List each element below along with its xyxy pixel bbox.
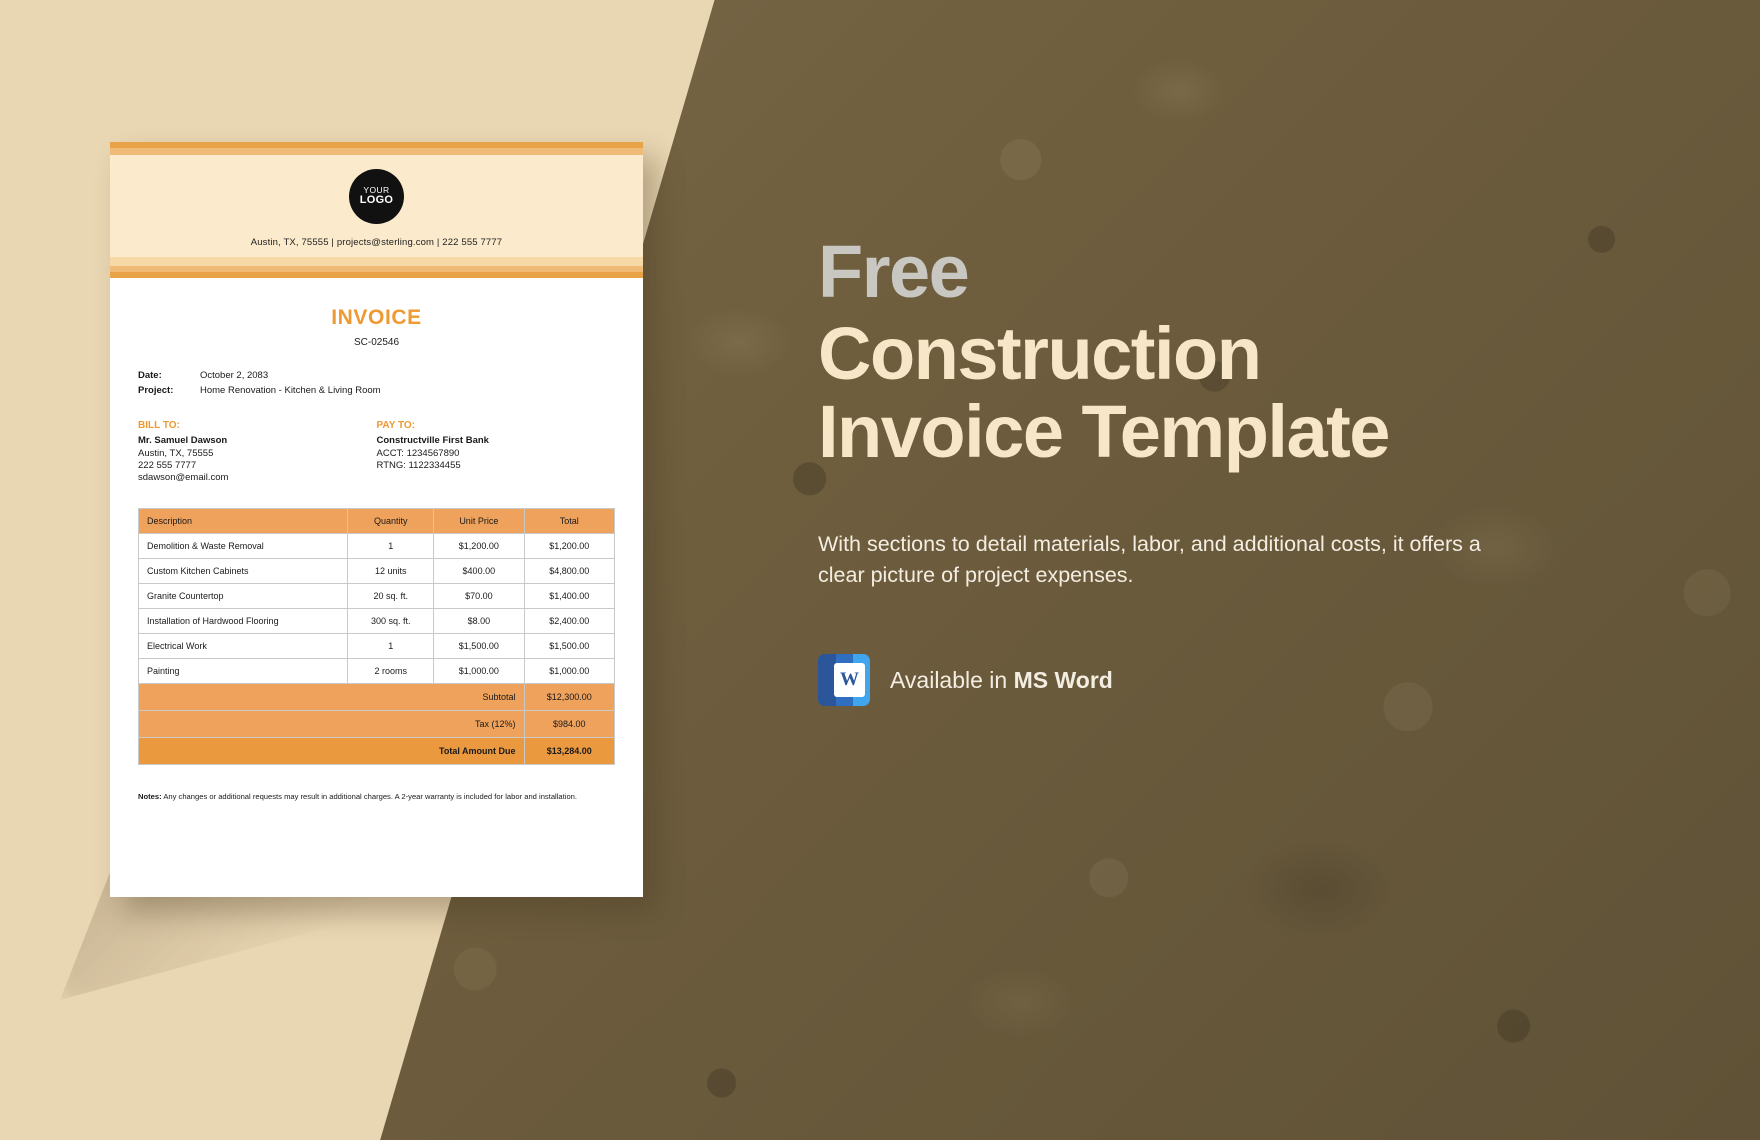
word-icon-glyph: W bbox=[834, 663, 865, 697]
promo-title-line-1: Construction bbox=[818, 315, 1678, 393]
invoice-title: INVOICE bbox=[138, 306, 615, 330]
pay-to-routing: RTNG: 1122334455 bbox=[377, 460, 616, 471]
summary-value-subtotal: $12,300.00 bbox=[524, 684, 614, 711]
cell-quantity: 2 rooms bbox=[348, 659, 434, 684]
cell-quantity: 1 bbox=[348, 634, 434, 659]
cell-unit-price: $1,500.00 bbox=[434, 634, 524, 659]
notes-label: Notes: bbox=[138, 792, 162, 801]
column-header-unit-price: Unit Price bbox=[434, 509, 524, 534]
column-header-quantity: Quantity bbox=[348, 509, 434, 534]
cell-description: Granite Countertop bbox=[139, 584, 348, 609]
bill-to-title: BILL TO: bbox=[138, 420, 377, 431]
summary-label-total-due: Total Amount Due bbox=[139, 738, 525, 765]
cell-quantity: 12 units bbox=[348, 559, 434, 584]
bill-to-address: Austin, TX, 75555 bbox=[138, 448, 377, 459]
table-row: Custom Kitchen Cabinets 12 units $400.00… bbox=[139, 559, 615, 584]
table-row: Demolition & Waste Removal 1 $1,200.00 $… bbox=[139, 534, 615, 559]
logo-placeholder: YOUR LOGO bbox=[349, 169, 404, 224]
header-stripe-top-light bbox=[110, 148, 643, 155]
cell-total: $1,400.00 bbox=[524, 584, 614, 609]
table-header-row: Description Quantity Unit Price Total bbox=[139, 509, 615, 534]
availability-app-name: MS Word bbox=[1014, 667, 1113, 693]
cell-description: Painting bbox=[139, 659, 348, 684]
meta-value-project: Home Renovation - Kitchen & Living Room bbox=[200, 385, 615, 396]
cell-quantity: 20 sq. ft. bbox=[348, 584, 434, 609]
table-row: Painting 2 rooms $1,000.00 $1,000.00 bbox=[139, 659, 615, 684]
cell-total: $4,800.00 bbox=[524, 559, 614, 584]
bill-to-name: Mr. Samuel Dawson bbox=[138, 435, 377, 446]
cell-total: $1,500.00 bbox=[524, 634, 614, 659]
summary-value-total-due: $13,284.00 bbox=[524, 738, 614, 765]
column-header-description: Description bbox=[139, 509, 348, 534]
summary-value-tax: $984.00 bbox=[524, 711, 614, 738]
meta-row-project: Project: Home Renovation - Kitchen & Liv… bbox=[138, 385, 615, 396]
parties-section: BILL TO: Mr. Samuel Dawson Austin, TX, 7… bbox=[138, 420, 615, 484]
table-row: Installation of Hardwood Flooring 300 sq… bbox=[139, 609, 615, 634]
cell-unit-price: $8.00 bbox=[434, 609, 524, 634]
promo-title-line-2: Invoice Template bbox=[818, 393, 1678, 471]
cell-quantity: 300 sq. ft. bbox=[348, 609, 434, 634]
summary-row-tax: Tax (12%) $984.00 bbox=[139, 711, 615, 738]
bill-to-phone: 222 555 7777 bbox=[138, 460, 377, 471]
notes-text: Any changes or additional requests may r… bbox=[162, 792, 577, 801]
summary-row-total-due: Total Amount Due $13,284.00 bbox=[139, 738, 615, 765]
cell-unit-price: $1,200.00 bbox=[434, 534, 524, 559]
invoice-document: YOUR LOGO Austin, TX, 75555 | projects@s… bbox=[110, 142, 643, 897]
screenshot-stage: YOUR LOGO Austin, TX, 75555 | projects@s… bbox=[0, 0, 1760, 1140]
cell-unit-price: $1,000.00 bbox=[434, 659, 524, 684]
cell-description: Electrical Work bbox=[139, 634, 348, 659]
table-row: Electrical Work 1 $1,500.00 $1,500.00 bbox=[139, 634, 615, 659]
header-contact-line: Austin, TX, 75555 | projects@sterling.co… bbox=[110, 224, 643, 257]
cell-description: Demolition & Waste Removal bbox=[139, 534, 348, 559]
pay-to-account: ACCT: 1234567890 bbox=[377, 448, 616, 459]
logo-line-2: LOGO bbox=[360, 195, 394, 207]
cell-quantity: 1 bbox=[348, 534, 434, 559]
pay-to-block: PAY TO: Constructville First Bank ACCT: … bbox=[377, 420, 616, 484]
meta-row-date: Date: October 2, 2083 bbox=[138, 370, 615, 381]
column-header-total: Total bbox=[524, 509, 614, 534]
header-stripe-bottom-pale bbox=[110, 257, 643, 266]
cell-unit-price: $400.00 bbox=[434, 559, 524, 584]
availability-row: W Available in MS Word bbox=[818, 654, 1678, 706]
summary-row-subtotal: Subtotal $12,300.00 bbox=[139, 684, 615, 711]
availability-prefix: Available in bbox=[890, 667, 1014, 693]
meta-label-date: Date: bbox=[138, 370, 200, 381]
invoice-notes: Notes: Any changes or additional request… bbox=[138, 791, 615, 802]
pay-to-bank-name: Constructville First Bank bbox=[377, 435, 616, 446]
promo-panel: Free Construction Invoice Template With … bbox=[818, 236, 1678, 706]
line-items-table: Description Quantity Unit Price Total De… bbox=[138, 508, 615, 765]
cell-description: Custom Kitchen Cabinets bbox=[139, 559, 348, 584]
cell-total: $1,000.00 bbox=[524, 659, 614, 684]
availability-text: Available in MS Word bbox=[890, 667, 1113, 694]
meta-label-project: Project: bbox=[138, 385, 200, 396]
promo-free-word: Free bbox=[818, 236, 1678, 309]
pay-to-title: PAY TO: bbox=[377, 420, 616, 431]
bill-to-email: sdawson@email.com bbox=[138, 472, 377, 483]
cell-unit-price: $70.00 bbox=[434, 584, 524, 609]
meta-value-date: October 2, 2083 bbox=[200, 370, 615, 381]
invoice-number: SC-02546 bbox=[138, 337, 615, 348]
ms-word-icon: W bbox=[818, 654, 870, 706]
cell-total: $1,200.00 bbox=[524, 534, 614, 559]
promo-subtitle: With sections to detail materials, labor… bbox=[818, 529, 1518, 590]
summary-label-subtotal: Subtotal bbox=[139, 684, 525, 711]
invoice-header: YOUR LOGO Austin, TX, 75555 | projects@s… bbox=[110, 155, 643, 257]
bill-to-block: BILL TO: Mr. Samuel Dawson Austin, TX, 7… bbox=[138, 420, 377, 484]
cell-total: $2,400.00 bbox=[524, 609, 614, 634]
line-items-header: Description Quantity Unit Price Total bbox=[139, 509, 615, 534]
line-items-body: Demolition & Waste Removal 1 $1,200.00 $… bbox=[139, 534, 615, 765]
summary-label-tax: Tax (12%) bbox=[139, 711, 525, 738]
invoice-meta: Date: October 2, 2083 Project: Home Reno… bbox=[138, 370, 615, 396]
table-row: Granite Countertop 20 sq. ft. $70.00 $1,… bbox=[139, 584, 615, 609]
invoice-body: INVOICE SC-02546 Date: October 2, 2083 P… bbox=[110, 278, 643, 802]
cell-description: Installation of Hardwood Flooring bbox=[139, 609, 348, 634]
